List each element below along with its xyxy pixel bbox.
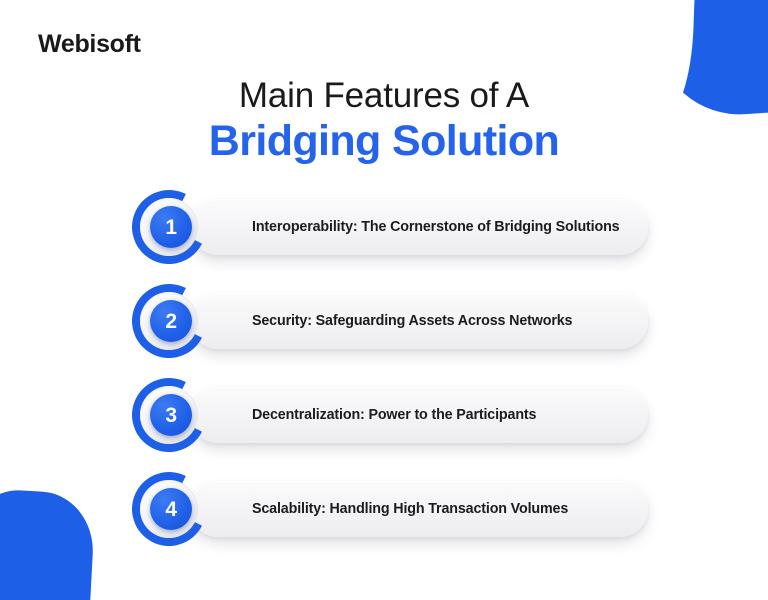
feature-list: Interoperability: The Cornerstone of Bri… [0,0,768,600]
feature-number: 1 [165,217,176,238]
feature-row[interactable]: Interoperability: The Cornerstone of Bri… [132,190,648,264]
infographic-canvas: Webisoft Main Features of A Bridging Sol… [0,0,768,600]
badge-number-circle: 1 [150,206,192,248]
feature-row[interactable]: Decentralization: Power to the Participa… [132,378,648,452]
badge-number-circle: 3 [150,394,192,436]
feature-pill[interactable]: Security: Safeguarding Assets Across Net… [190,293,648,349]
feature-label: Scalability: Handling High Transaction V… [252,501,568,517]
feature-number-badge: 2 [132,284,206,358]
feature-row[interactable]: Security: Safeguarding Assets Across Net… [132,284,648,358]
badge-number-circle: 4 [150,488,192,530]
feature-number: 4 [165,499,176,520]
feature-number-badge: 1 [132,190,206,264]
feature-pill[interactable]: Decentralization: Power to the Participa… [190,387,648,443]
feature-pill[interactable]: Interoperability: The Cornerstone of Bri… [190,199,648,255]
feature-row[interactable]: Scalability: Handling High Transaction V… [132,472,648,546]
feature-number-badge: 3 [132,378,206,452]
feature-label: Decentralization: Power to the Participa… [252,407,536,423]
badge-number-circle: 2 [150,300,192,342]
feature-pill[interactable]: Scalability: Handling High Transaction V… [190,481,648,537]
feature-number: 2 [165,311,176,332]
feature-label: Security: Safeguarding Assets Across Net… [252,313,572,329]
feature-number-badge: 4 [132,472,206,546]
feature-label: Interoperability: The Cornerstone of Bri… [252,219,619,235]
feature-number: 3 [165,405,176,426]
